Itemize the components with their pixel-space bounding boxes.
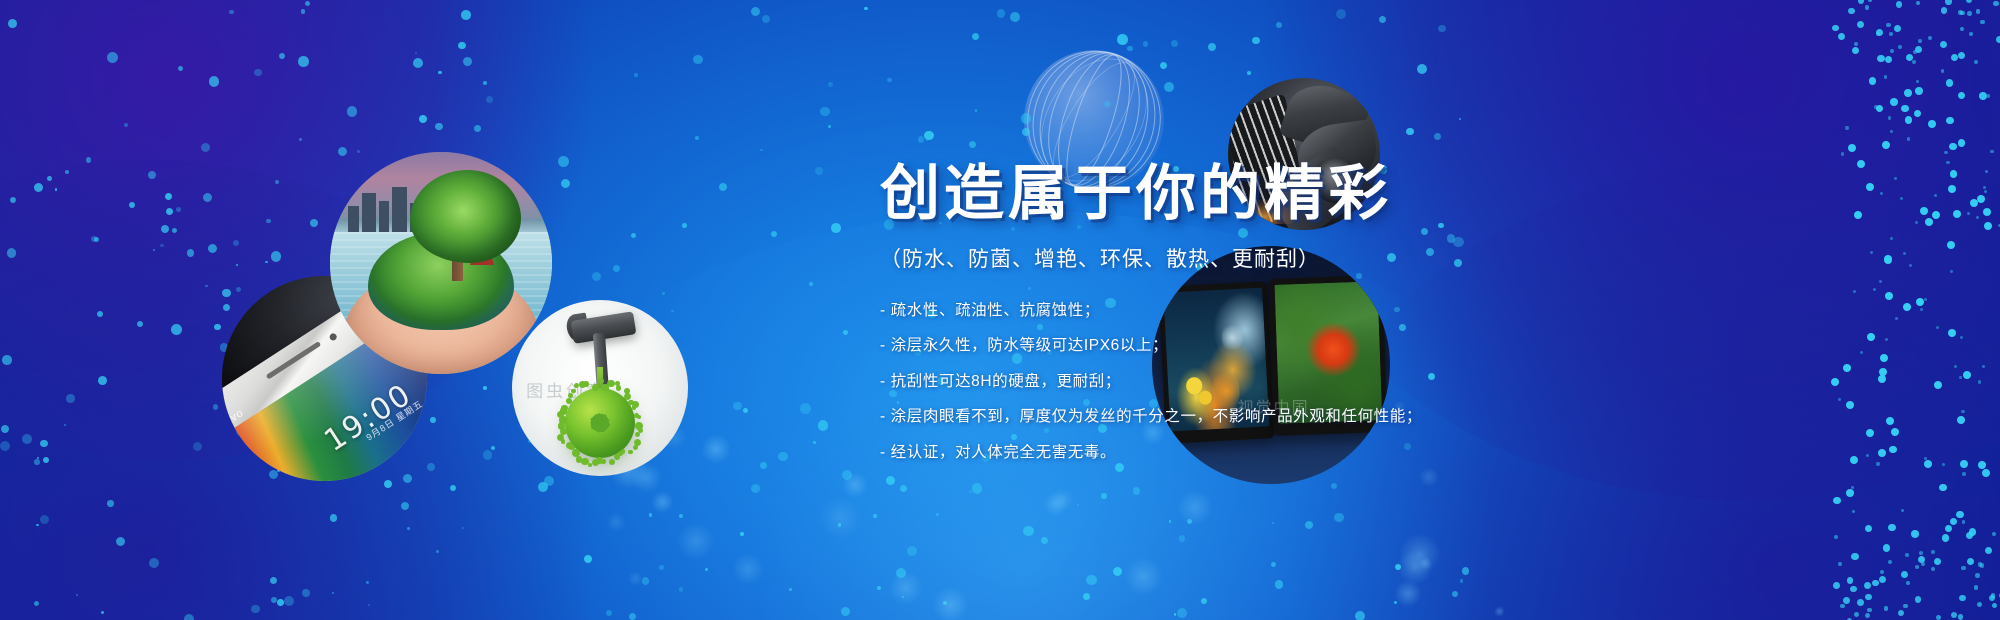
phone-clock-date: 9月8日 星期五 xyxy=(363,397,425,444)
list-item: - 涂层肉眼看不到，厚度仅为发丝的千分之一，不影响产品外观和任何性能； xyxy=(880,409,1620,425)
virus-spike xyxy=(566,398,572,404)
virus-spike xyxy=(572,449,580,457)
virus-spike xyxy=(633,445,638,450)
virus-spike xyxy=(581,458,588,465)
banner-text-block: 创造属于你的精彩 （防水、防菌、增艳、环保、散热、更耐刮） - 疏水性、疏油性、… xyxy=(880,162,1620,480)
virus-spike xyxy=(576,456,582,462)
phone-clock-time: 19:00 xyxy=(318,377,418,459)
virus-spike xyxy=(568,393,573,398)
water-droplet xyxy=(1152,481,1160,484)
virus-spike xyxy=(607,380,614,387)
virus-spike xyxy=(588,463,592,467)
eco-tree-canopy xyxy=(410,170,521,263)
phone-speaker xyxy=(266,341,322,379)
banner-subtitle: （防水、防菌、增艳、环保、散热、更耐刮） xyxy=(880,243,1620,273)
virus-spike xyxy=(571,389,575,393)
virus-spike xyxy=(637,415,641,419)
list-item: - 疏水性、疏油性、抗腐蚀性； xyxy=(880,303,1620,319)
virus-spike xyxy=(609,459,615,465)
list-item: - 抗刮性可达8H的硬盘，更耐刮； xyxy=(880,374,1620,390)
feature-list: - 疏水性、疏油性、抗腐蚀性； - 涂层永久性，防水等级可达IPX6以上； - … xyxy=(880,303,1620,461)
virus-spike xyxy=(592,384,599,391)
virus-spike xyxy=(557,434,564,441)
virus-spike xyxy=(592,459,599,466)
virus-spike xyxy=(561,405,568,412)
list-item: - 经认证，对人体完全无害无毒。 xyxy=(880,445,1620,461)
virus-spike xyxy=(614,454,620,460)
virus-spike xyxy=(632,405,637,410)
virus-spike xyxy=(635,432,640,437)
virus-spike xyxy=(583,381,588,386)
photo-circle-antibacterial: 图虫创意 xyxy=(512,300,688,476)
page-title: 创造属于你的精彩 xyxy=(880,162,1620,226)
virus-body xyxy=(565,388,635,458)
promo-banner: vivo 19:00 9月8日 星期五 xyxy=(0,0,2000,620)
list-item: - 涂层永久性，防水等级可达IPX6以上； xyxy=(880,338,1620,354)
virus-spike xyxy=(628,450,633,455)
virus-spike xyxy=(616,385,622,391)
